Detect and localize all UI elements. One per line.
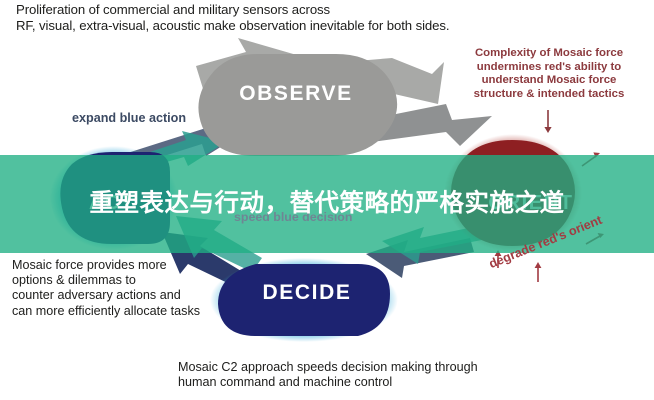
node-label-observe: OBSERVE: [216, 82, 376, 106]
annotation-mosaic-force-note: Mosaic force provides more options & dil…: [12, 258, 200, 319]
arrow-complexity-to-orient: [544, 110, 551, 133]
annotation-complexity-note: Complexity of Mosaic force undermines re…: [456, 47, 642, 102]
caption-sensor-proliferation: Proliferation of commercial and military…: [16, 2, 449, 33]
annotation-mosaic-c2-note: Mosaic C2 approach speeds decision makin…: [178, 360, 478, 390]
screenshot-canvas: OBSERVE ACT ORIENT DECIDE Proliferation …: [0, 0, 654, 400]
edge-label-expand-blue-action: expand blue action: [72, 111, 186, 125]
node-label-decide: DECIDE: [222, 281, 392, 305]
